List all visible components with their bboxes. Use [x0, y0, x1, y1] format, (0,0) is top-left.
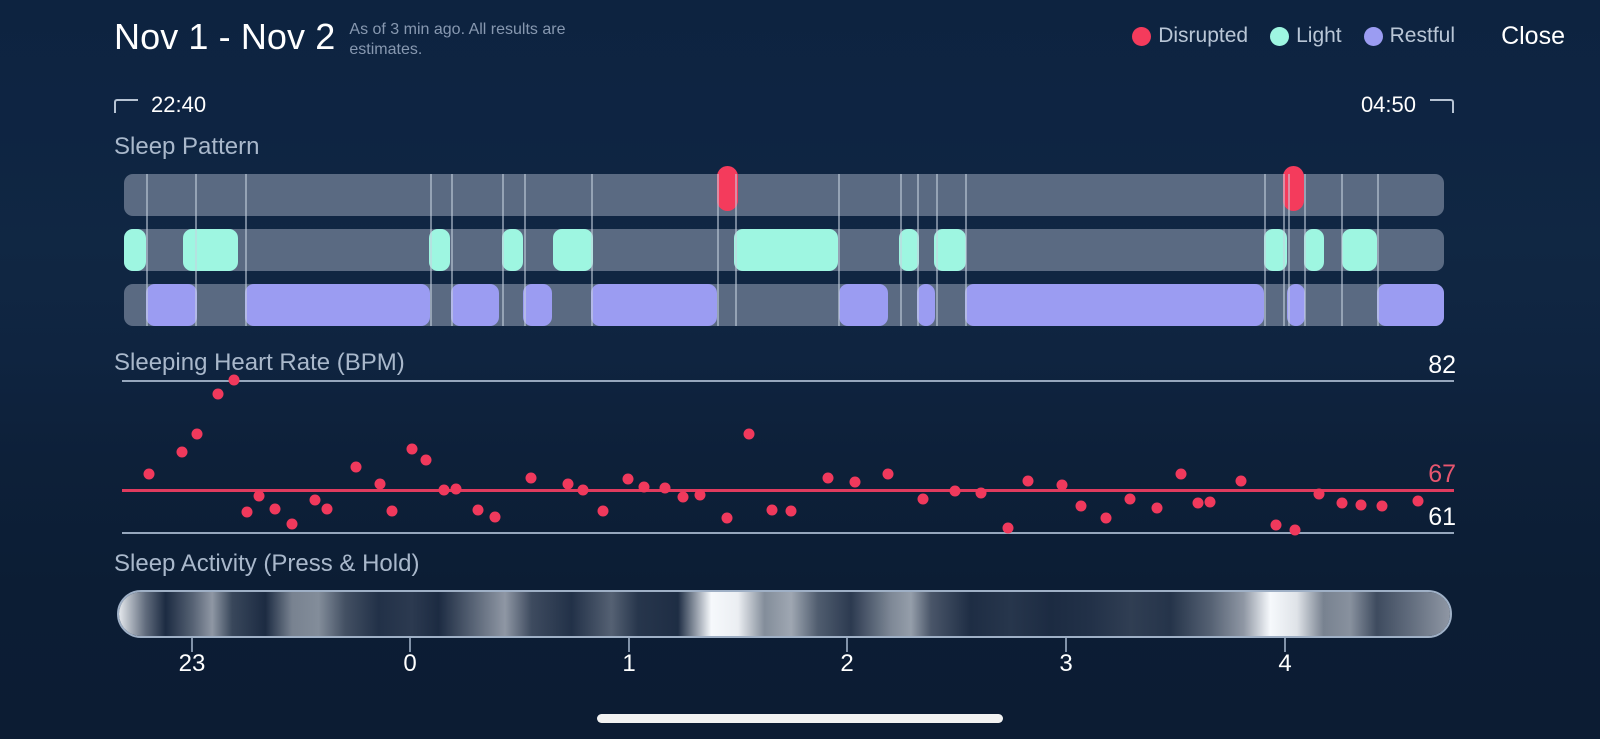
legend-label: Light	[1296, 24, 1342, 48]
hr-data-point	[1101, 513, 1112, 524]
stage-connector-line	[195, 174, 197, 326]
legend-item-restful: Restful	[1364, 24, 1455, 48]
sleep-segment-light	[1342, 229, 1376, 271]
activity-gradient	[119, 592, 1450, 636]
hr-value-82: 82	[1428, 351, 1456, 380]
legend-label: Disrupted	[1158, 24, 1248, 48]
sleep-segment-light	[553, 229, 593, 271]
sleep-pattern-label: Sleep Pattern	[114, 133, 259, 161]
hr-data-point	[387, 506, 398, 517]
hr-data-point	[744, 429, 755, 440]
hr-data-point	[1235, 475, 1246, 486]
hour-label-0: 0	[403, 650, 416, 678]
hour-label-3: 3	[1059, 650, 1072, 678]
hr-data-point	[597, 506, 608, 517]
sleep-detail-screen: Nov 1 - Nov 2 As of 3 min ago. All resul…	[0, 0, 1600, 739]
hr-data-point	[351, 461, 362, 472]
hr-data-point	[917, 494, 928, 505]
hr-data-point	[1057, 479, 1068, 490]
hr-data-point	[785, 506, 796, 517]
stage-connector-line	[965, 174, 967, 326]
title-block: Nov 1 - Nov 2 As of 3 min ago. All resul…	[114, 14, 607, 60]
hour-label-1: 1	[622, 650, 635, 678]
hr-data-point	[577, 485, 588, 496]
sleep-activity-chart[interactable]	[117, 590, 1452, 638]
stage-connector-line	[502, 174, 504, 326]
hr-data-point	[822, 472, 833, 483]
hr-data-point	[1193, 498, 1204, 509]
hr-data-point	[212, 389, 223, 400]
stage-connector-line	[451, 174, 453, 326]
hr-data-point	[310, 495, 321, 506]
time-range-row: 22:40 04:50	[114, 92, 1454, 122]
hr-data-point	[721, 512, 732, 523]
subtitle-note: As of 3 min ago. All results are estimat…	[349, 20, 607, 60]
hr-data-point	[623, 474, 634, 485]
bracket-right-icon	[1430, 99, 1454, 113]
activity-strip[interactable]	[117, 590, 1452, 638]
hr-data-point	[322, 503, 333, 514]
heart-rate-chart[interactable]: 826761	[122, 380, 1454, 532]
sleep-segment-restful	[523, 284, 552, 326]
heart-rate-label: Sleeping Heart Rate (BPM)	[114, 349, 405, 377]
sleep-segment-light	[1304, 229, 1324, 271]
hr-data-point	[1076, 500, 1087, 511]
stage-connector-line	[936, 174, 938, 326]
sleep-segment-light	[934, 229, 966, 271]
hr-value-67: 67	[1428, 460, 1456, 489]
hr-data-point	[407, 443, 418, 454]
home-indicator[interactable]	[597, 714, 1003, 723]
stage-connector-line	[900, 174, 902, 326]
hr-data-point	[1151, 503, 1162, 514]
hr-data-point	[242, 506, 253, 517]
legend: DisruptedLightRestful	[1132, 24, 1455, 48]
sleep-pattern-chart[interactable]	[124, 174, 1444, 326]
hr-data-point	[563, 479, 574, 490]
page-title: Nov 1 - Nov 2	[114, 14, 335, 60]
close-button[interactable]: Close	[1501, 22, 1565, 51]
hr-reference-line-82	[122, 380, 1454, 382]
stage-connector-line	[717, 174, 719, 326]
hr-data-point	[176, 447, 187, 458]
hr-data-point	[1175, 469, 1186, 480]
sleep-activity-label[interactable]: Sleep Activity (Press & Hold)	[114, 550, 419, 578]
stage-connector-line	[1283, 174, 1285, 326]
sleep-start-time: 22:40	[151, 92, 206, 118]
sleep-segment-restful	[245, 284, 430, 326]
legend-item-disrupted: Disrupted	[1132, 24, 1248, 48]
hr-data-point	[976, 487, 987, 498]
stage-connector-line	[591, 174, 593, 326]
circle-icon	[1132, 27, 1151, 46]
hr-reference-line-61	[122, 532, 1454, 534]
sleep-segment-light	[183, 229, 237, 271]
hr-data-point	[191, 429, 202, 440]
sleep-segment-restful	[146, 284, 196, 326]
hr-data-point	[677, 491, 688, 502]
stage-connector-line	[735, 174, 737, 326]
stage-connector-line	[1288, 174, 1290, 326]
sleep-segment-light	[734, 229, 838, 271]
hr-data-point	[254, 490, 265, 501]
hr-data-point	[1290, 524, 1301, 535]
hr-data-point	[660, 482, 671, 493]
hr-data-point	[1337, 498, 1348, 509]
sleep-end-time: 04:50	[1361, 92, 1416, 118]
hr-data-point	[1002, 523, 1013, 534]
sleep-segment-restful	[451, 284, 499, 326]
stage-connector-line	[1304, 174, 1306, 326]
circle-icon	[1364, 27, 1383, 46]
hr-data-point	[287, 519, 298, 530]
stage-connector-line	[917, 174, 919, 326]
hr-data-point	[1355, 500, 1366, 511]
hr-data-point	[1413, 495, 1424, 506]
hour-label-23: 23	[179, 650, 206, 678]
sleep-segment-restful	[839, 284, 888, 326]
legend-label: Restful	[1390, 24, 1455, 48]
hr-data-point	[882, 469, 893, 480]
header: Nov 1 - Nov 2 As of 3 min ago. All resul…	[0, 0, 1600, 80]
hr-data-point	[1205, 497, 1216, 508]
sleep-segment-restful	[965, 284, 1265, 326]
sleep-segment-restful	[1377, 284, 1444, 326]
bracket-left-icon	[114, 99, 138, 113]
hr-data-point	[439, 485, 450, 496]
hr-data-point	[451, 483, 462, 494]
hr-data-point	[849, 477, 860, 488]
hr-value-61: 61	[1428, 503, 1456, 532]
sleep-segment-restful	[591, 284, 716, 326]
hr-reference-line-67	[122, 489, 1454, 492]
stage-connector-line	[524, 174, 526, 326]
sleep-segment-light	[124, 229, 146, 271]
stage-connector-line	[1264, 174, 1266, 326]
hr-data-point	[375, 478, 386, 489]
sleep-segment-restful	[917, 284, 935, 326]
stage-connector-line	[1377, 174, 1379, 326]
hr-data-point	[270, 503, 281, 514]
hr-data-point	[639, 482, 650, 493]
hr-data-point	[420, 454, 431, 465]
hour-label-2: 2	[840, 650, 853, 678]
hr-data-point	[1377, 500, 1388, 511]
hr-data-point	[228, 375, 239, 386]
hr-data-point	[695, 490, 706, 501]
hr-data-point	[1022, 475, 1033, 486]
legend-item-light: Light	[1270, 24, 1342, 48]
hour-axis: 2301234	[0, 638, 1600, 684]
hr-data-point	[489, 511, 500, 522]
hour-label-4: 4	[1278, 650, 1291, 678]
stage-connector-line	[430, 174, 432, 326]
circle-icon	[1270, 27, 1289, 46]
hr-data-point	[143, 469, 154, 480]
hr-data-point	[1125, 494, 1136, 505]
hr-data-point	[472, 505, 483, 516]
track-disrupted	[124, 174, 1444, 216]
hr-data-point	[767, 504, 778, 515]
stage-connector-line	[146, 174, 148, 326]
stage-connector-line	[838, 174, 840, 326]
hr-data-point	[1270, 520, 1281, 531]
hr-data-point	[1314, 489, 1325, 500]
stage-connector-line	[1341, 174, 1343, 326]
sleep-segment-light	[502, 229, 523, 271]
sleep-segment-disrupted	[1283, 166, 1304, 211]
stage-connector-line	[245, 174, 247, 326]
hr-data-point	[949, 486, 960, 497]
hr-data-point	[525, 472, 536, 483]
